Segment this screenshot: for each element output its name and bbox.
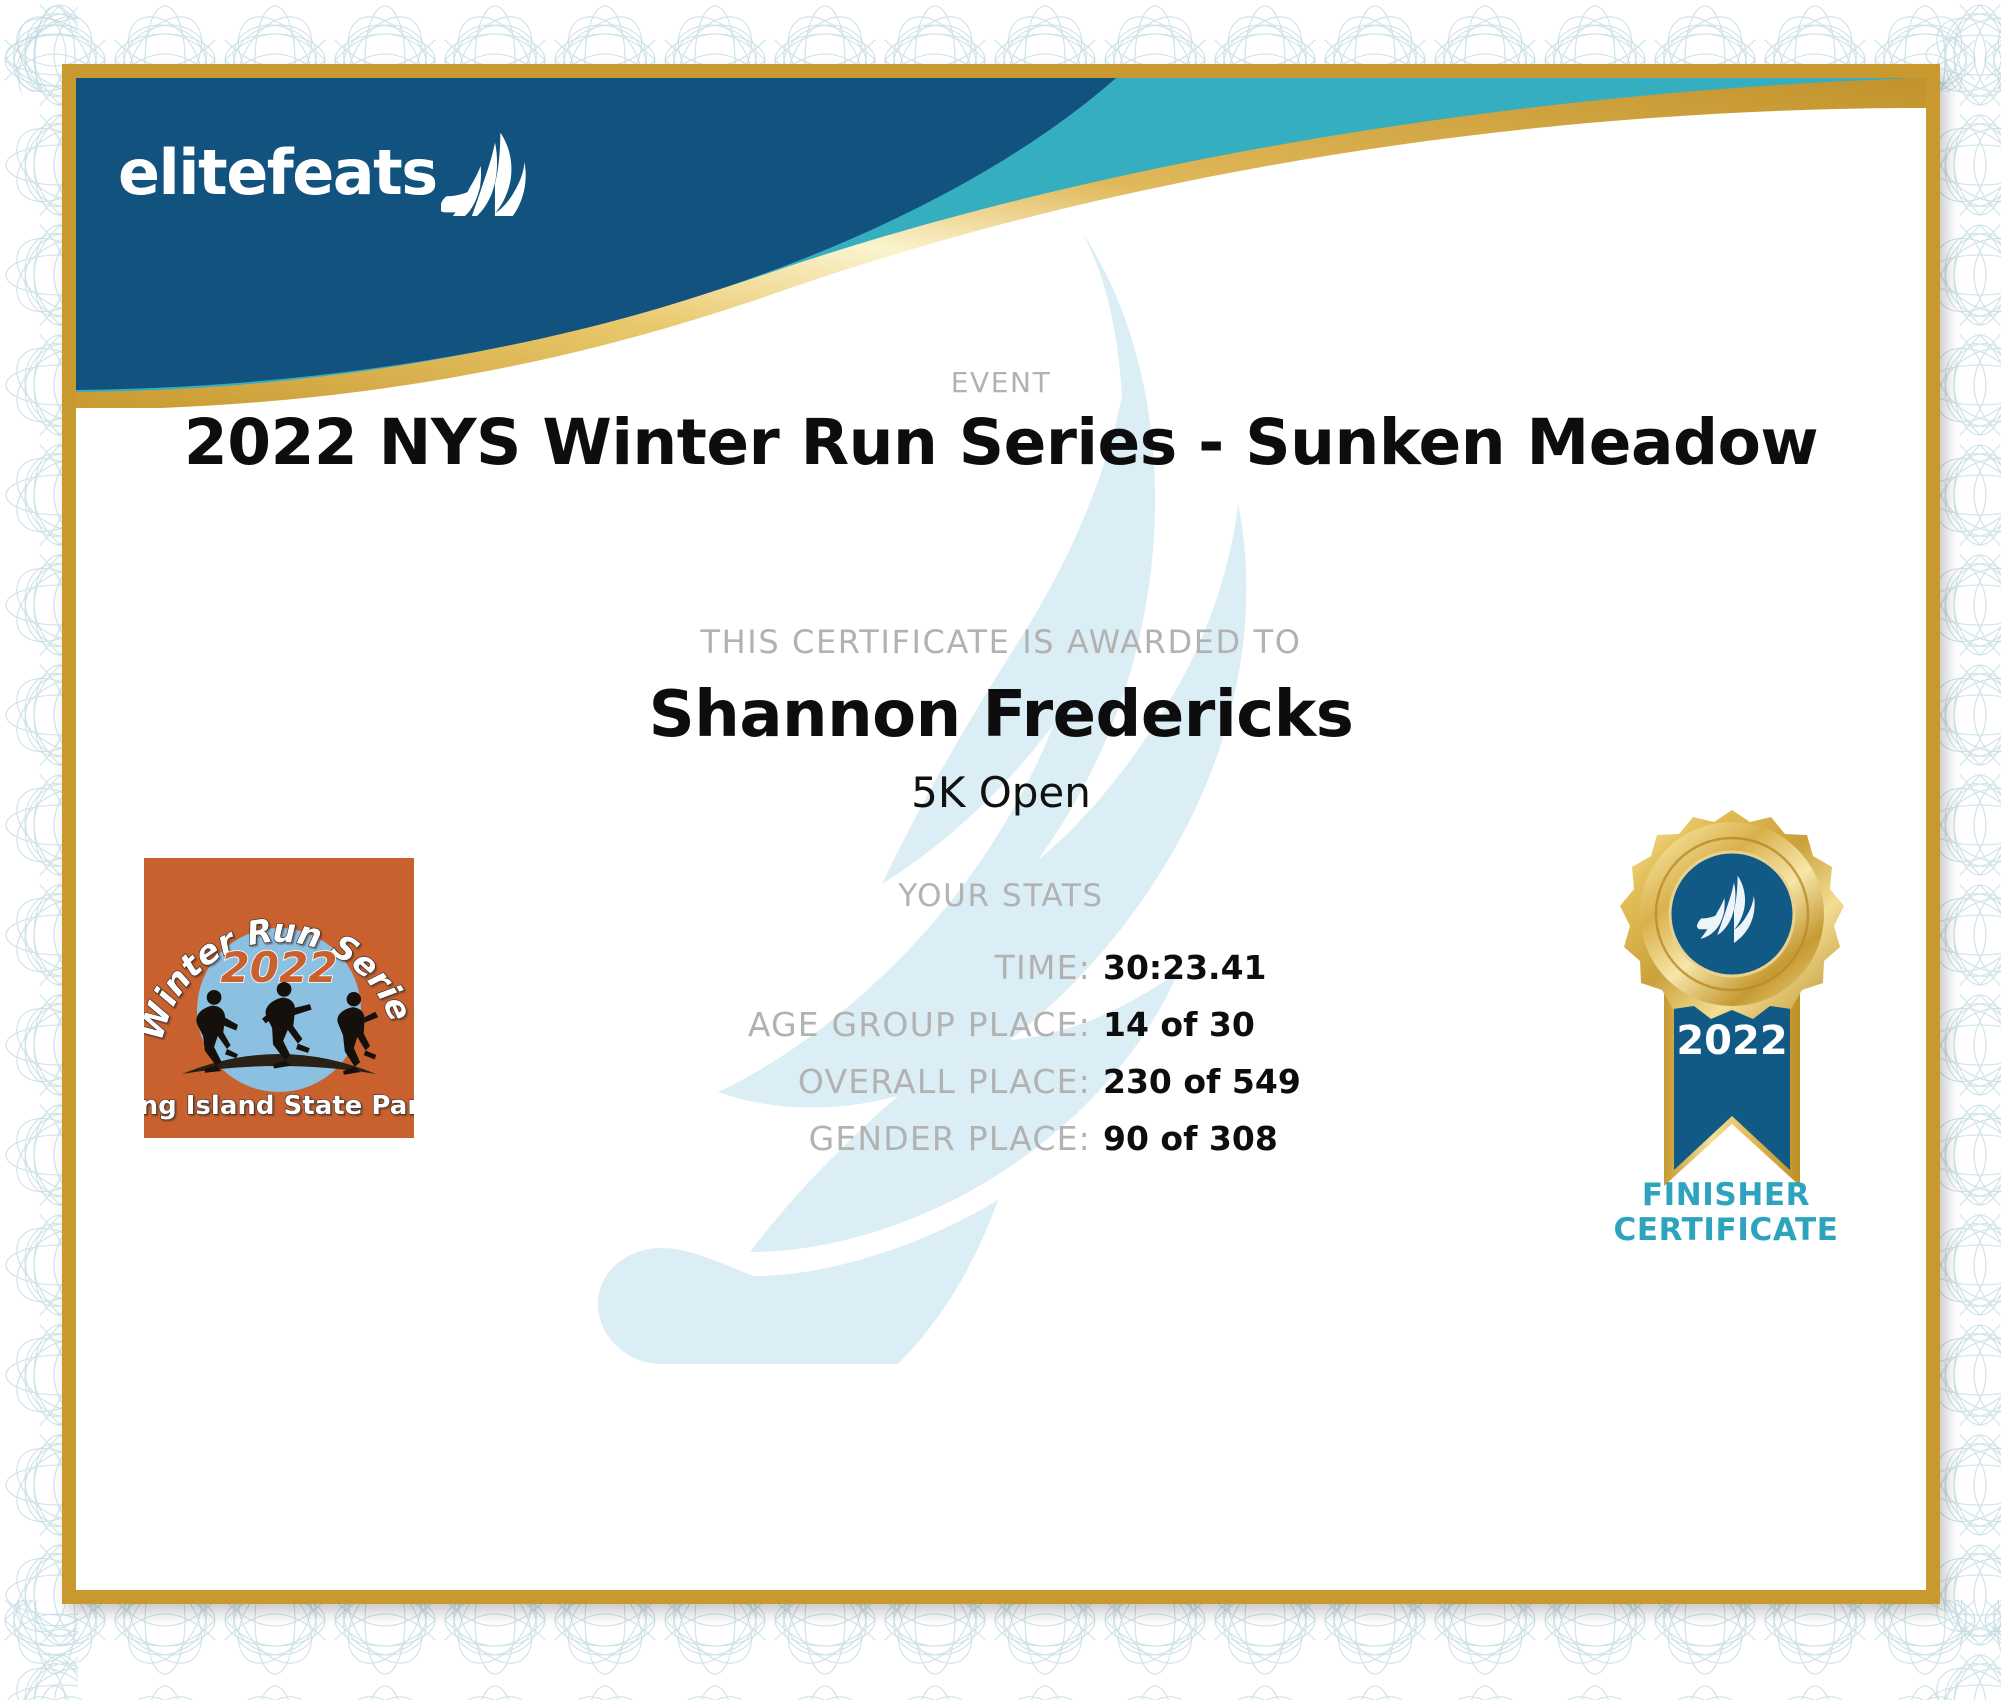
stat-label: AGE GROUP PLACE: bbox=[611, 1005, 1091, 1044]
stat-value: 90 of 308 bbox=[1091, 1119, 1391, 1158]
stat-value: 14 of 30 bbox=[1091, 1005, 1391, 1044]
event-title: 2022 NYS Winter Run Series - Sunken Mead… bbox=[76, 406, 1926, 479]
stat-label: GENDER PLACE: bbox=[611, 1119, 1091, 1158]
stat-value: 230 of 549 bbox=[1091, 1062, 1391, 1101]
awarded-to-label: THIS CERTIFICATE IS AWARDED TO bbox=[76, 623, 1926, 661]
badge-medal bbox=[1620, 810, 1844, 1019]
brand-logo: elitefeats bbox=[118, 130, 531, 216]
badge-caption-line1: FINISHER bbox=[1576, 1178, 1876, 1213]
certificate-card: elitefeats EVENT 2022 NYS Winter Run Ser… bbox=[62, 64, 1940, 1604]
certificate-page: elitefeats EVENT 2022 NYS Winter Run Ser… bbox=[0, 0, 2001, 1700]
badge-ribbon-year: 2022 bbox=[1676, 1018, 1787, 1064]
event-label: EVENT bbox=[76, 366, 1926, 399]
brand-wordmark: elitefeats bbox=[118, 142, 437, 204]
badge-caption-line2: CERTIFICATE bbox=[1576, 1213, 1876, 1248]
badge-caption: FINISHER CERTIFICATE bbox=[1576, 1178, 1876, 1249]
winged-foot-icon bbox=[441, 130, 531, 216]
recipient-name: Shannon Fredericks bbox=[76, 678, 1926, 752]
event-logo-bottom-text: Long Island State Parks bbox=[144, 1091, 414, 1121]
stat-value: 30:23.41 bbox=[1091, 948, 1391, 987]
event-logo: Winter Run Series 2022 bbox=[144, 858, 414, 1138]
stat-label: TIME: bbox=[611, 948, 1091, 987]
stat-label: OVERALL PLACE: bbox=[611, 1062, 1091, 1101]
